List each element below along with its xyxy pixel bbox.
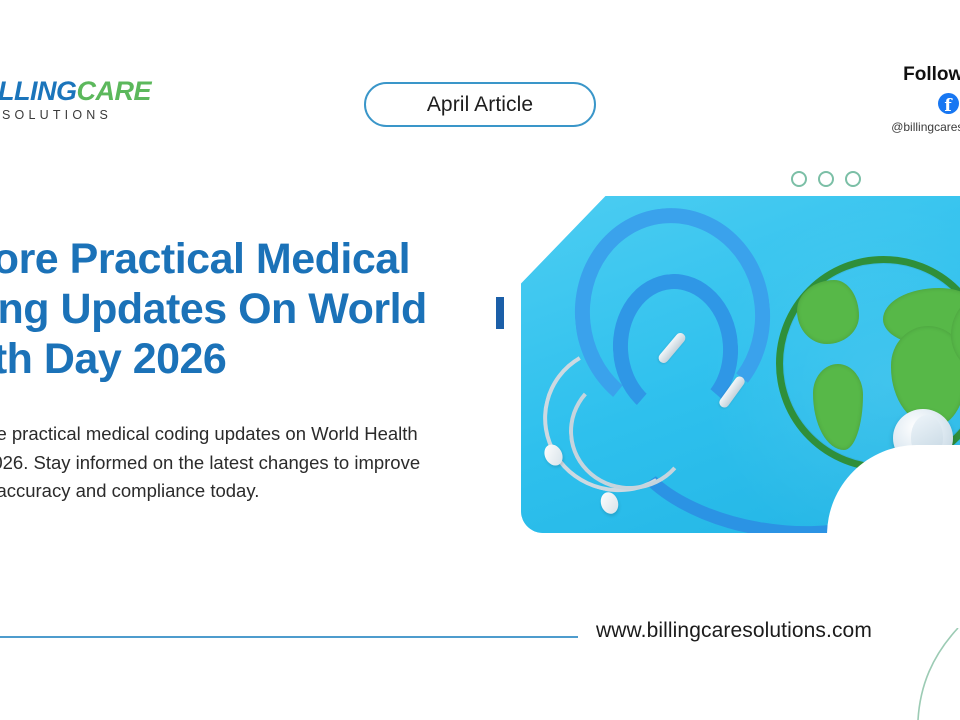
corner-swoosh-decoration bbox=[880, 628, 960, 720]
page-title: Explore Practical Medical Coding Updates… bbox=[0, 235, 524, 385]
website-url[interactable]: www.billingcaresolutions.com bbox=[596, 619, 872, 643]
follow-us-title: Follow Us bbox=[888, 64, 960, 86]
page-description: Explore practical medical coding updates… bbox=[0, 420, 454, 506]
facebook-icon[interactable]: f bbox=[938, 93, 959, 114]
dot-icon bbox=[845, 171, 861, 187]
article-badge[interactable]: April Article bbox=[364, 82, 596, 127]
article-badge-label: April Article bbox=[427, 93, 533, 117]
facebook-glyph: f bbox=[944, 98, 951, 115]
stethoscope-eartip-right bbox=[598, 490, 621, 516]
globe-land-north-america bbox=[797, 280, 859, 344]
dot-icon bbox=[818, 171, 834, 187]
decorative-dots bbox=[791, 171, 861, 187]
social-handle: @billingcaresolutions bbox=[888, 120, 960, 134]
logo-billing-text: BILLING bbox=[0, 76, 77, 106]
logo-subtitle: SOLUTIONS bbox=[2, 109, 172, 122]
social-icons: f bbox=[888, 93, 960, 114]
follow-us-block: Follow Us f @billingcaresolutions bbox=[888, 64, 960, 134]
dot-icon bbox=[791, 171, 807, 187]
logo-wordmark: BILLINGCARE bbox=[0, 78, 172, 105]
logo-care-text: CARE bbox=[77, 76, 152, 106]
footer-divider bbox=[0, 636, 578, 638]
swoosh-icon bbox=[880, 628, 960, 720]
hero-image-card bbox=[521, 196, 960, 533]
article-banner-page: BILLINGCARE SOLUTIONS April Article Foll… bbox=[0, 0, 960, 720]
brand-logo[interactable]: BILLINGCARE SOLUTIONS bbox=[0, 78, 172, 122]
